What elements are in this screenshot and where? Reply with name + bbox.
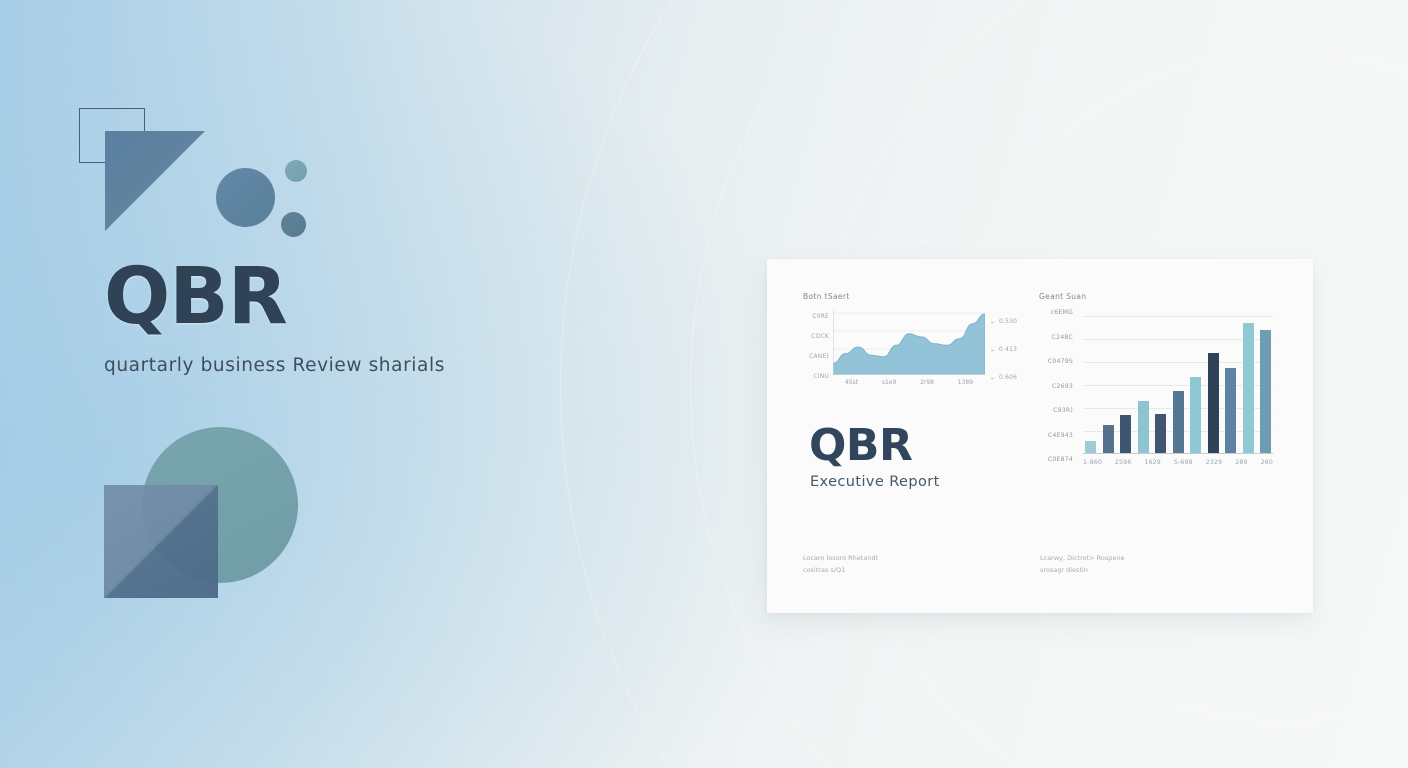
area-chart-panel: Botn tSaert C0RE COCK CANE) CINU xyxy=(803,292,1023,387)
caption-right-line: srosagr diestin xyxy=(1040,564,1124,576)
dot-large-icon xyxy=(216,168,275,227)
dot-small-top-icon xyxy=(285,160,307,182)
triangle-icon xyxy=(105,131,205,231)
bar-chart-bars xyxy=(1085,313,1271,453)
bar-y-tick: C2693 xyxy=(1039,383,1073,390)
bar-y-tick: C93R) xyxy=(1039,407,1073,414)
bar-chart-bar xyxy=(1260,330,1271,453)
poster-canvas: QBR quartarly business Review sharials B… xyxy=(0,0,1408,768)
bar-x-tick: S-698 xyxy=(1174,459,1193,466)
bar-chart-bar xyxy=(1173,391,1184,453)
card-brand-subtitle: Executive Report xyxy=(810,474,940,490)
bar-chart-panel: Geant Suan c6EMG C248C C0479S C2693 C93R… xyxy=(1039,292,1277,477)
area-chart-plot xyxy=(833,309,985,375)
caption-left: Locam losoro Rhetandt cositras s/Q1 xyxy=(803,552,878,577)
bar-chart-x-axis: 1-860 2596 1629 S-698 2329 289 260 xyxy=(1083,459,1273,466)
area-right-tick: 0.606 xyxy=(991,374,1025,381)
bar-x-tick: 2329 xyxy=(1206,459,1223,466)
bar-chart-title: Geant Suan xyxy=(1039,292,1277,301)
hero-subtitle: quartarly business Review sharials xyxy=(104,355,445,376)
card-brand-title: QBR xyxy=(809,424,912,468)
area-y-tick: C0RE xyxy=(803,313,829,320)
area-chart-right-axis: 0.530 0.413 0.606 xyxy=(991,318,1025,402)
dot-small-bottom-icon xyxy=(281,212,306,237)
bar-y-tick: c6EMG xyxy=(1039,309,1073,316)
bar-y-tick: C248C xyxy=(1039,334,1073,341)
bar-x-tick: 289 xyxy=(1235,459,1247,466)
caption-right-line: Lcarwy, Dictrot> Rospene xyxy=(1040,552,1124,564)
bar-chart-bar xyxy=(1243,323,1254,453)
bar-x-tick: 260 xyxy=(1261,459,1273,466)
area-right-tick: 0.413 xyxy=(991,346,1025,353)
square-slate-icon xyxy=(104,485,218,598)
bar-chart-bar xyxy=(1190,377,1201,453)
area-y-tick: CINU xyxy=(803,373,829,380)
area-chart-title: Botn tSaert xyxy=(803,292,1023,301)
area-x-tick: 2r98 xyxy=(920,379,934,386)
area-y-tick: COCK xyxy=(803,333,829,340)
bar-chart-bar xyxy=(1208,353,1219,453)
bar-chart-bar xyxy=(1085,441,1096,453)
area-x-tick: s1e9 xyxy=(882,379,896,386)
bar-y-tick: C0479S xyxy=(1039,358,1073,365)
report-card[interactable]: Botn tSaert C0RE COCK CANE) CINU xyxy=(767,259,1313,613)
caption-left-line: Locam losoro Rhetandt xyxy=(803,552,878,564)
area-chart-x-axis: 45st s1e9 2r98 1389 xyxy=(833,379,985,386)
bar-chart-y-axis: c6EMG C248C C0479S C2693 C93R) C4E943 C0… xyxy=(1039,309,1073,481)
area-chart-y-axis: C0RE COCK CANE) CINU xyxy=(803,313,829,393)
area-x-tick: 1389 xyxy=(958,379,973,386)
bar-x-tick: 1629 xyxy=(1144,459,1161,466)
area-chart: C0RE COCK CANE) CINU xyxy=(803,309,1023,387)
bar-chart-bar xyxy=(1103,425,1114,453)
area-x-tick: 45st xyxy=(845,379,858,386)
area-right-tick: 0.530 xyxy=(991,318,1025,325)
bar-chart-plot xyxy=(1083,313,1273,454)
caption-right: Lcarwy, Dictrot> Rospene srosagr diestin xyxy=(1040,552,1124,577)
bar-x-tick: 2596 xyxy=(1115,459,1132,466)
caption-left-line: cositras s/Q1 xyxy=(803,564,878,576)
area-chart-svg xyxy=(833,309,985,375)
bar-y-tick: C0E874 xyxy=(1039,456,1073,463)
bar-chart-bar xyxy=(1138,401,1149,453)
bar-chart-bar xyxy=(1155,414,1166,453)
bar-chart-bar xyxy=(1120,415,1131,453)
bar-chart: c6EMG C248C C0479S C2693 C93R) C4E943 C0… xyxy=(1039,309,1277,477)
hero-panel: QBR quartarly business Review sharials xyxy=(0,0,520,768)
hero-brand-title: QBR xyxy=(104,258,287,336)
bar-x-tick: 1-860 xyxy=(1083,459,1102,466)
area-y-tick: CANE) xyxy=(803,353,829,360)
bar-chart-bar xyxy=(1225,368,1236,453)
bar-y-tick: C4E943 xyxy=(1039,432,1073,439)
